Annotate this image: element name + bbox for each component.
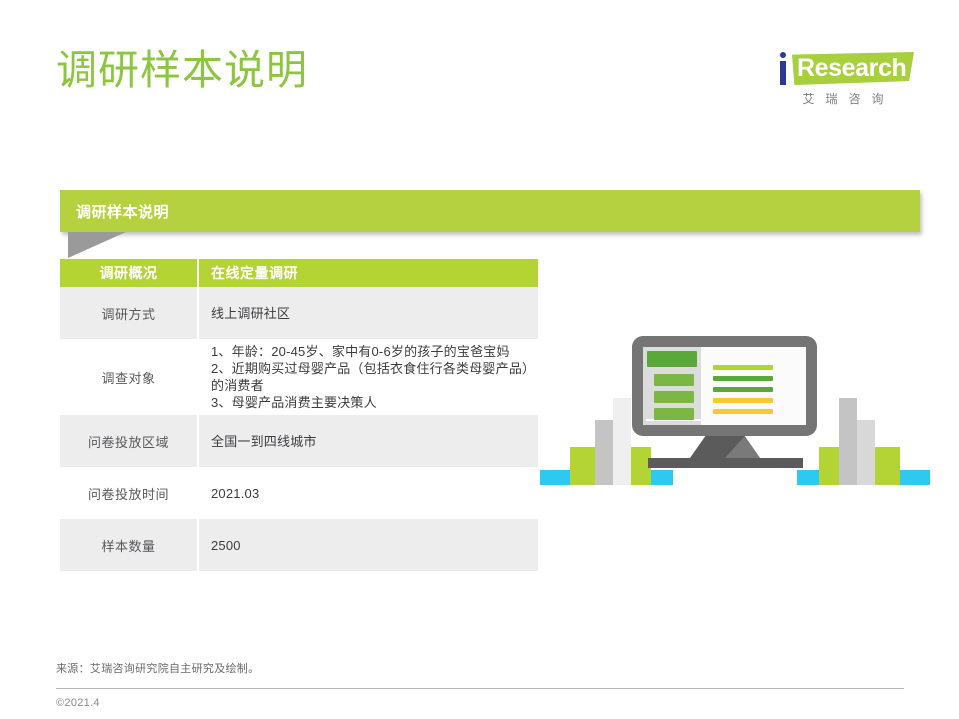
monitor-stand-base-icon [648,458,803,468]
bar-column-icon [857,420,875,485]
table-header-label: 调研概况 [60,259,197,287]
table-row-value-line: 全国一到四线城市 [211,433,538,450]
bar-column-icon [540,470,570,485]
table-row-label: 样本数量 [60,519,197,571]
monitor-frame-icon [632,336,817,436]
copyright-text: ©2021.4 [56,697,100,709]
logo-i-stem-icon [780,61,786,85]
section-banner-bar: 调研样本说明 [60,190,920,232]
source-note: 来源：艾瑞咨询研究院自主研究及绘制。 [56,660,259,676]
section-banner: 调研样本说明 [60,190,920,232]
screen-block-icon [713,376,773,381]
bar-column-icon [839,398,857,485]
table-row: 样本数量2500 [60,519,538,571]
bar-column-icon [875,447,900,485]
footer-divider [56,688,904,689]
bar-column-icon [595,420,613,485]
logo-mark: Research [779,50,914,88]
table-row-label: 问卷投放时间 [60,467,197,519]
screen-block-icon [713,365,773,370]
table-row-value-line: 线上调研社区 [211,305,538,322]
table-row-value: 线上调研社区 [197,287,538,339]
screen-block-icon [654,408,694,420]
table-row-value-line: 2500 [211,537,538,554]
table-row-label: 问卷投放区域 [60,415,197,467]
bar-column-icon [819,447,839,485]
bar-column-icon [900,470,930,485]
banner-pointer-triangle-icon [68,232,126,258]
screen-block-icon [654,391,694,403]
table-row-value-line: 1、年龄：20-45岁、家中有0-6岁的孩子的宝爸宝妈 [211,343,538,360]
table-row-label: 调研方式 [60,287,197,339]
table-row-value-line: 2021.03 [211,485,538,502]
screen-block-icon [713,409,773,414]
monitor-screen [643,347,806,425]
table-row: 调研方式线上调研社区 [60,287,538,339]
bar-column-icon [613,398,631,485]
table-row-value-line: 3、母婴产品消费主要决策人 [211,394,538,411]
screen-block-icon [713,398,773,403]
table-header-row: 调研概况 在线定量调研 [60,259,538,287]
section-banner-label: 调研样本说明 [76,201,169,222]
screen-block-icon [647,351,697,367]
screen-block-icon [713,387,773,392]
iresearch-logo: Research 艾瑞咨询 [779,50,914,108]
table-row: 调查对象1、年龄：20-45岁、家中有0-6岁的孩子的宝爸宝妈2、近期购买过母婴… [60,339,538,415]
table-header-value: 在线定量调研 [197,259,538,287]
table-row-value: 2500 [197,519,538,571]
screen-block-icon [654,374,694,386]
table-row-value: 2021.03 [197,467,538,519]
bar-column-icon [651,470,673,485]
logo-wordmark: Research [797,55,906,82]
table-row: 问卷投放区域全国一到四线城市 [60,415,538,467]
logo-chinese-name: 艾瑞咨询 [783,90,914,107]
table-row-label: 调查对象 [60,339,197,415]
page-title: 调研样本说明 [56,44,308,96]
table-row-value: 1、年龄：20-45岁、家中有0-6岁的孩子的宝爸宝妈2、近期购买过母婴产品（包… [197,339,538,415]
bar-column-icon [797,470,819,485]
table-row-value-line: 的消费者 [211,377,538,394]
logo-i-dot-icon [780,52,786,58]
table-row: 问卷投放时间2021.03 [60,467,538,519]
bar-column-icon [570,447,595,485]
survey-info-table: 调研概况 在线定量调研 调研方式线上调研社区调查对象1、年龄：20-45岁、家中… [60,259,538,571]
dashboard-monitor-illustration [540,330,930,485]
table-row-value: 全国一到四线城市 [197,415,538,467]
table-row-value-line: 2、近期购买过母婴产品（包括衣食住行各类母婴产品） [211,360,538,377]
